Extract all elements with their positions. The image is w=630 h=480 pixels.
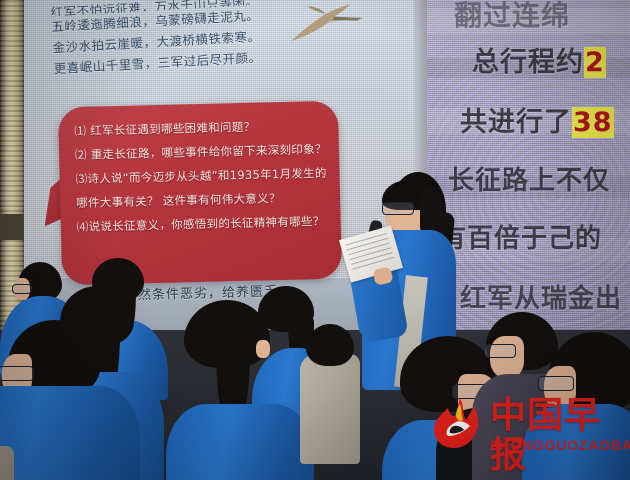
highlight-number-2: 38 [572,107,614,138]
right-line-3: 共进行了38 [460,100,614,139]
wall-pillar-shadow [0,214,24,240]
right-line-1: 翻过连绵 [454,0,570,34]
right-line-2: 总行程约2 [472,40,606,79]
watermark-chinese: 中国早报 [490,396,624,476]
question-callout: ⑴ 红军长征遇到哪些困难和问题？ ⑵ 重走长征路，哪些事件给你留下来深刻印象？ … [58,101,342,286]
right-line-6: 红军从瑞金出 [460,278,622,315]
flame-torch-icon [432,396,488,452]
watermark: 中国早报 ZHONGGUOZAOBAO [432,392,624,462]
question-4: ⑷说说长征意义，你感悟到的长征精神有哪些？ [77,209,328,239]
watermark-pinyin: ZHONGGUOZAOBAO [490,438,630,453]
presenter-glasses-icon [382,202,414,215]
right-line-4: 长征路上不仅 [448,160,610,197]
photo-frame: 红军不怕远征难，万水千山只等闲。 五岭逶迤腾细浪，乌蒙磅礴走泥丸。 金沙水拍云崖… [0,0,630,480]
highlight-number-1: 2 [584,47,606,78]
